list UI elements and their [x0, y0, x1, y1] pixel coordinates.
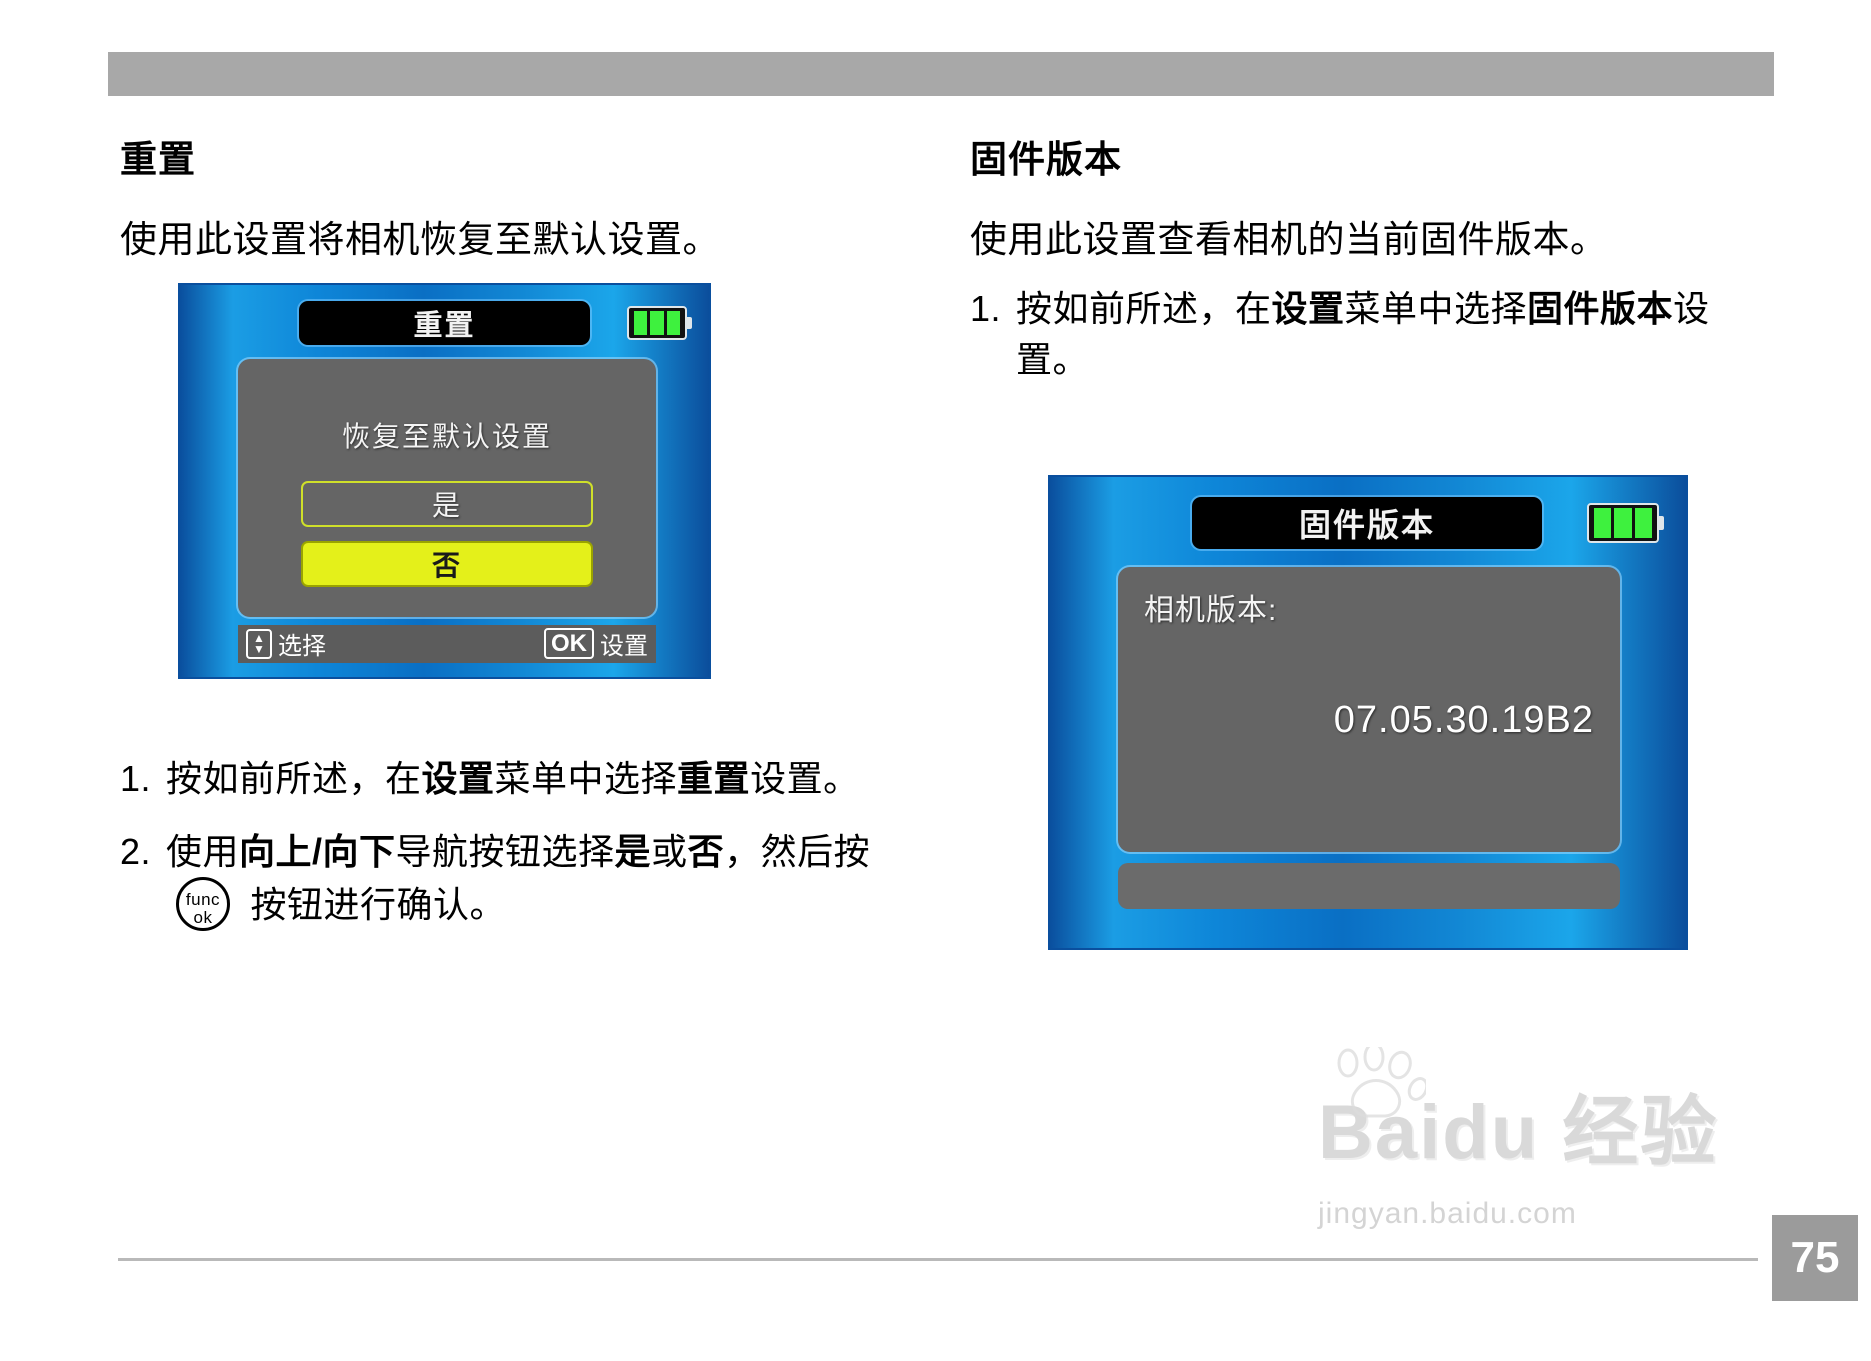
hint-select-label: 选择	[278, 626, 326, 661]
lcd-info-panel-firmware: 相机版本: 07.05.30.19B2	[1118, 567, 1620, 852]
step-text: 按如前所述，在设置菜单中选择重置设置。	[166, 753, 880, 804]
left-column: 重置 使用此设置将相机恢复至默认设置。 重置 恢复至默认设置 是 否	[120, 140, 880, 931]
step-part-bold: 向上/向下	[239, 831, 396, 872]
reset-option-no[interactable]: 否	[301, 541, 593, 587]
footer-rule	[118, 1258, 1758, 1261]
section-title-firmware: 固件版本	[970, 140, 1760, 181]
step-part: 按如前所述，在	[1016, 288, 1272, 329]
reset-prompt-text: 恢复至默认设置	[238, 415, 656, 455]
firmware-version-value: 07.05.30.19B2	[1118, 699, 1594, 742]
lcd-title-bar-firmware: 固件版本	[1192, 497, 1542, 549]
battery-full-icon	[1587, 503, 1659, 543]
battery-full-icon	[627, 306, 687, 340]
lcd-title-text: 固件版本	[1299, 500, 1435, 546]
func-ok-button-icon: funcok	[176, 877, 230, 931]
watermark-sub-text: jingyan.baidu.com	[1318, 1197, 1758, 1231]
section-title-reset: 重置	[120, 140, 880, 181]
right-column: 固件版本 使用此设置查看相机的当前固件版本。 1. 按如前所述，在设置菜单中选择…	[970, 140, 1760, 950]
reset-option-yes[interactable]: 是	[301, 481, 593, 527]
step-part: 按如前所述，在	[166, 758, 422, 799]
reset-option-no-label: 否	[432, 544, 462, 584]
step-part: 导航按钮选择	[396, 831, 615, 872]
step-part: 或	[651, 831, 688, 872]
page-number: 75	[1772, 1215, 1858, 1301]
watermark-main-text: Baidu 经验	[1318, 1095, 1758, 1171]
step-part: 使用	[166, 831, 239, 872]
reset-option-yes-label: 是	[432, 484, 462, 524]
step-number: 1.	[120, 753, 166, 804]
step-part-bold: 是	[615, 831, 652, 872]
lcd-title-text: 重置	[413, 302, 475, 344]
ok-key-icon: OK	[544, 628, 594, 660]
step-part-bold: 否	[688, 831, 725, 872]
hint-set-label: 设置	[600, 626, 648, 661]
baidu-jingyan-watermark: Baidu 经验 jingyan.baidu.com	[1318, 1095, 1758, 1275]
step-part-bold: 固件版本	[1527, 288, 1673, 329]
step-part: 按钮进行确认。	[240, 884, 506, 925]
up-down-arrows-icon: ▲▼	[246, 629, 272, 659]
step-part: 菜单中选择	[495, 758, 678, 799]
step-text: 按如前所述，在设置菜单中选择固件版本设置。	[1016, 283, 1760, 385]
page-header-band	[108, 52, 1774, 96]
step-part-bold: 重置	[677, 758, 750, 799]
hint-set: OK 设置	[544, 626, 648, 661]
step-part-bold: 设置	[422, 758, 495, 799]
step-part-bold: 设置	[1272, 288, 1345, 329]
manual-page: 重置 使用此设置将相机恢复至默认设置。 重置 恢复至默认设置 是 否	[0, 0, 1871, 1361]
step-item: 1. 按如前所述，在设置菜单中选择重置设置。	[120, 753, 880, 804]
step-number: 2.	[120, 826, 166, 931]
section-lead-reset: 使用此设置将相机恢复至默认设置。	[120, 215, 880, 265]
step-part: 菜单中选择	[1345, 288, 1528, 329]
lcd-title-bar-reset: 重置	[299, 301, 590, 345]
section-lead-firmware: 使用此设置查看相机的当前固件版本。	[970, 215, 1760, 265]
lcd-footer-bar-reset: ▲▼ 选择 OK 设置	[238, 625, 656, 663]
lcd-screenshot-firmware: 固件版本 相机版本: 07.05.30.19B2	[1048, 475, 1688, 950]
step-number: 1.	[970, 283, 1016, 385]
lcd-screenshot-reset: 重置 恢复至默认设置 是 否 ▲▼ 选择	[178, 283, 711, 679]
step-part: 设置。	[750, 758, 860, 799]
hint-select: ▲▼ 选择	[246, 626, 326, 661]
lcd-footer-bar-firmware	[1118, 863, 1620, 909]
lcd-dialog-panel-reset: 恢复至默认设置 是 否	[238, 359, 656, 617]
step-part: ，然后按	[724, 831, 870, 872]
step-item: 2. 使用向上/向下导航按钮选择是或否，然后按 funcok 按钮进行确认。	[120, 826, 880, 931]
step-text: 使用向上/向下导航按钮选择是或否，然后按 funcok 按钮进行确认。	[166, 826, 880, 931]
baidu-paw-icon	[1330, 1047, 1426, 1121]
firmware-label: 相机版本:	[1144, 585, 1277, 629]
step-item: 1. 按如前所述，在设置菜单中选择固件版本设置。	[970, 283, 1760, 385]
